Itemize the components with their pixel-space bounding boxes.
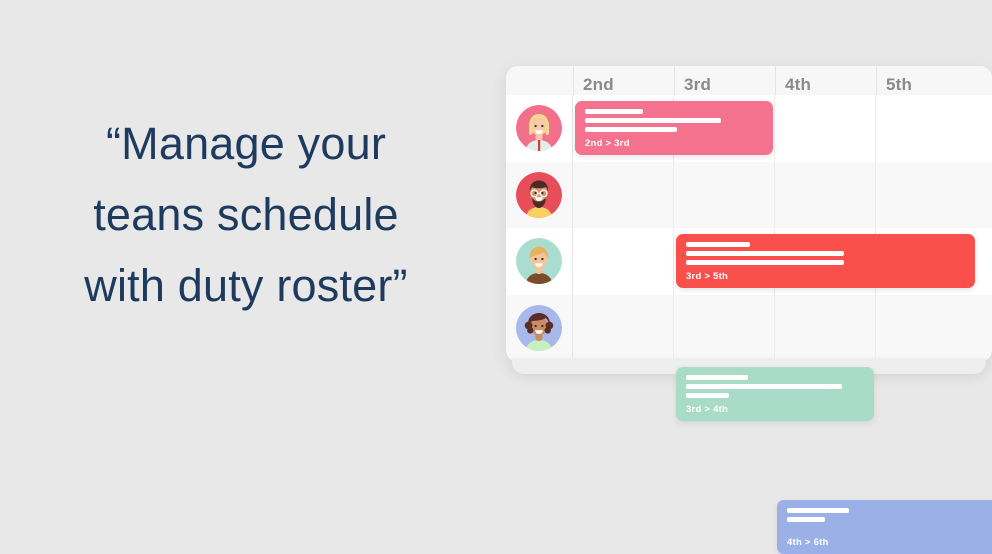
column-header-2nd[interactable]: 2nd — [573, 66, 674, 95]
avatar-cell — [506, 162, 573, 229]
schedule-event[interactable]: 3rd > 5th — [676, 234, 975, 288]
column-header-5th[interactable]: 5th — [876, 66, 977, 95]
grid-cell[interactable] — [876, 162, 977, 229]
column-header-4th[interactable]: 4th — [775, 66, 876, 95]
grid-cell[interactable] — [775, 162, 876, 229]
avatar-column-header — [506, 66, 573, 95]
grid-cell[interactable] — [775, 95, 876, 162]
grid-cell[interactable] — [573, 295, 674, 362]
event-date-range-label: 3rd > 5th — [686, 271, 965, 282]
schedule-event[interactable]: 2nd > 3rd — [575, 101, 773, 155]
calendar-header-row: 2nd 3rd 4th 5th — [506, 66, 992, 95]
schedule-event[interactable]: 4th > 6th — [777, 500, 992, 554]
roster-row: 4th > 6th — [506, 295, 992, 362]
grid-cell[interactable] — [573, 162, 674, 229]
event-placeholder-bar — [686, 251, 844, 256]
avatar-cell — [506, 295, 573, 362]
duty-roster-card: 2nd 3rd 4th 5th 2nd > 3rd3rd > 5th3rd > … — [506, 66, 992, 362]
event-placeholder-bar — [686, 393, 729, 398]
grid-cell[interactable] — [876, 95, 977, 162]
event-date-range-label: 3rd > 4th — [686, 404, 864, 415]
avatar-blond-young-man[interactable] — [516, 238, 562, 284]
roster-row: 3rd > 5th — [506, 162, 992, 229]
event-placeholder-bar — [787, 508, 849, 513]
avatar-curly-hair-woman[interactable] — [516, 305, 562, 351]
event-date-range-label: 2nd > 3rd — [585, 138, 763, 149]
calendar-grid: 2nd > 3rd3rd > 5th3rd > 4th4th > 6th — [506, 95, 992, 362]
roster-row: 2nd > 3rd — [506, 95, 992, 162]
grid-cell[interactable] — [573, 228, 674, 295]
event-placeholder-bar — [585, 109, 643, 114]
grid-cell[interactable] — [674, 295, 775, 362]
event-placeholder-bar — [585, 118, 721, 123]
avatar-bearded-man-glasses[interactable] — [516, 172, 562, 218]
avatar-cell — [506, 95, 573, 162]
schedule-event[interactable]: 3rd > 4th — [676, 367, 874, 421]
grid-cell[interactable] — [674, 162, 775, 229]
avatar-blonde-woman[interactable] — [516, 105, 562, 151]
grid-cell[interactable] — [876, 295, 977, 362]
event-placeholder-bar — [686, 242, 750, 247]
event-placeholder-bar — [686, 375, 748, 380]
event-placeholder-bar — [686, 260, 844, 265]
grid-cell[interactable] — [775, 295, 876, 362]
page-title: “Manage your teans schedule with duty ro… — [0, 108, 492, 321]
avatar-cell — [506, 228, 573, 295]
event-date-range-label: 4th > 6th — [787, 537, 992, 548]
event-placeholder-bar — [686, 384, 842, 389]
event-placeholder-bar — [787, 517, 825, 522]
column-header-3rd[interactable]: 3rd — [674, 66, 775, 95]
event-placeholder-bar — [585, 127, 677, 132]
